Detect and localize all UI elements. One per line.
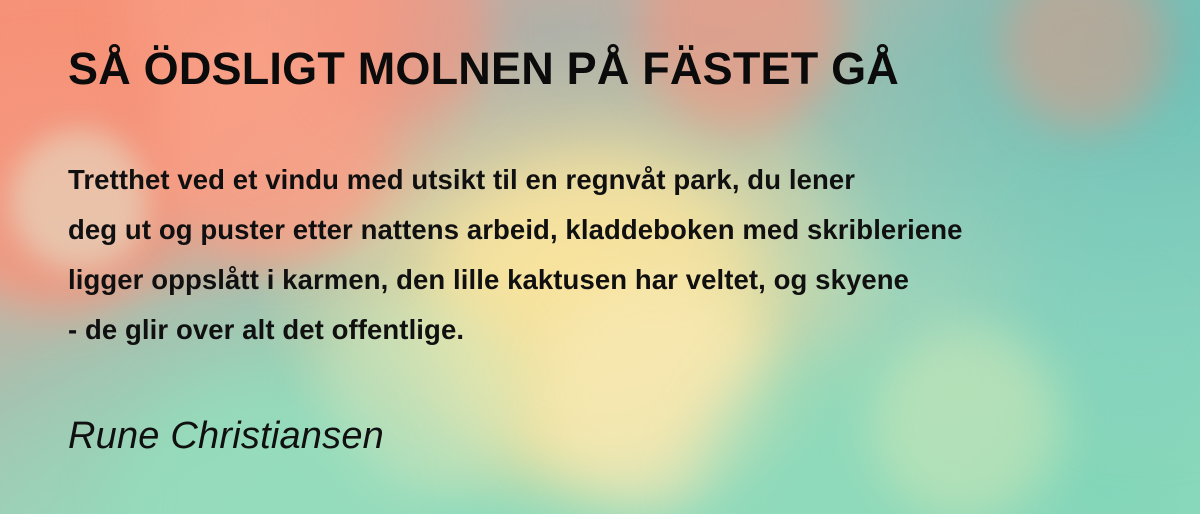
quote-poster: SÅ ÖDSLIGT MOLNEN PÅ FÄSTET GÅ Tretthet …: [0, 0, 1200, 514]
poster-content: SÅ ÖDSLIGT MOLNEN PÅ FÄSTET GÅ Tretthet …: [0, 0, 1200, 514]
poem-stanza: Tretthet ved et vindu med utsikt til en …: [68, 155, 963, 355]
poem-line: - de glir over alt det offentlige.: [68, 305, 963, 355]
poem-title: SÅ ÖDSLIGT MOLNEN PÅ FÄSTET GÅ: [68, 44, 899, 94]
poem-author: Rune Christiansen: [68, 415, 384, 458]
poem-line: ligger oppslått i karmen, den lille kakt…: [68, 255, 963, 305]
poem-line: Tretthet ved et vindu med utsikt til en …: [68, 155, 963, 205]
poem-line: deg ut og puster etter nattens arbeid, k…: [68, 205, 963, 255]
